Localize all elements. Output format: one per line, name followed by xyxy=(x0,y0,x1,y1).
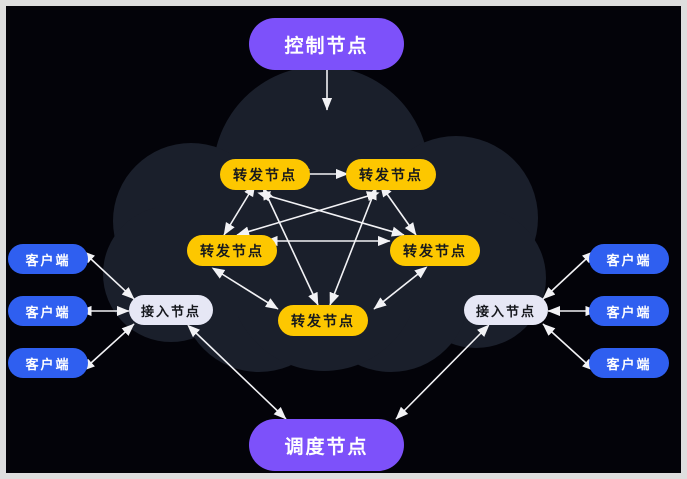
node-client-right-1[interactable]: 客户端 xyxy=(589,244,669,274)
diagram-canvas: 控制节点 调度节点 转发节点 转发节点 转发节点 转发节点 转发节点 接入节点 … xyxy=(6,6,681,473)
node-access-right[interactable]: 接入节点 xyxy=(464,295,548,325)
link-client-r3-access xyxy=(543,324,586,363)
link-client-r1-access xyxy=(543,259,586,299)
node-client-left-3[interactable]: 客户端 xyxy=(8,348,88,378)
right-client-links xyxy=(543,259,586,363)
node-client-right-3[interactable]: 客户端 xyxy=(589,348,669,378)
node-forwarder-bottom-center[interactable]: 转发节点 xyxy=(278,305,368,336)
link-client-l3-access xyxy=(91,324,134,363)
node-forwarder-middle-left[interactable]: 转发节点 xyxy=(187,235,277,266)
node-forwarder-top-right[interactable]: 转发节点 xyxy=(346,159,436,190)
diagram-vector-layer xyxy=(6,6,681,473)
node-forwarder-middle-right[interactable]: 转发节点 xyxy=(390,235,480,266)
node-client-left-2[interactable]: 客户端 xyxy=(8,296,88,326)
screenshot-frame: 控制节点 调度节点 转发节点 转发节点 转发节点 转发节点 转发节点 接入节点 … xyxy=(0,0,687,479)
node-scheduler[interactable]: 调度节点 xyxy=(249,419,404,471)
node-control[interactable]: 控制节点 xyxy=(249,18,404,70)
node-client-left-1[interactable]: 客户端 xyxy=(8,244,88,274)
node-forwarder-top-left[interactable]: 转发节点 xyxy=(220,159,310,190)
node-client-right-2[interactable]: 客户端 xyxy=(589,296,669,326)
node-access-left[interactable]: 接入节点 xyxy=(129,295,213,325)
